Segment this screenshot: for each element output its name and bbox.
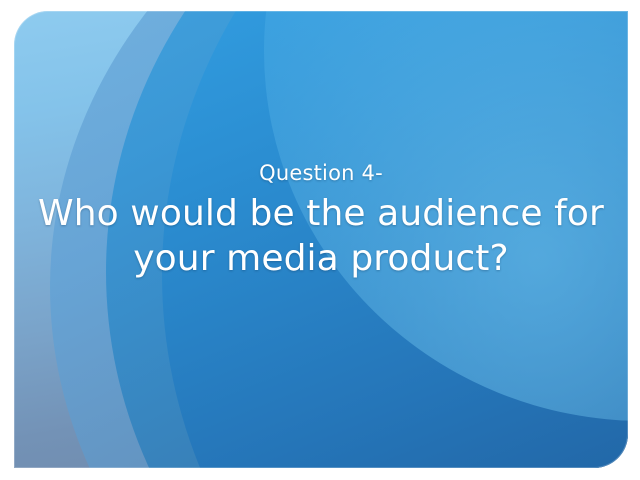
slide-question-label: Question 4- [22,159,620,187]
slide-canvas[interactable]: Question 4- Who would be the audience fo… [14,11,628,468]
slide-title: Who would be the audience for your media… [22,191,620,281]
slide-text-block: Question 4- Who would be the audience fo… [14,159,628,281]
presentation-stage: Question 4- Who would be the audience fo… [0,0,640,480]
